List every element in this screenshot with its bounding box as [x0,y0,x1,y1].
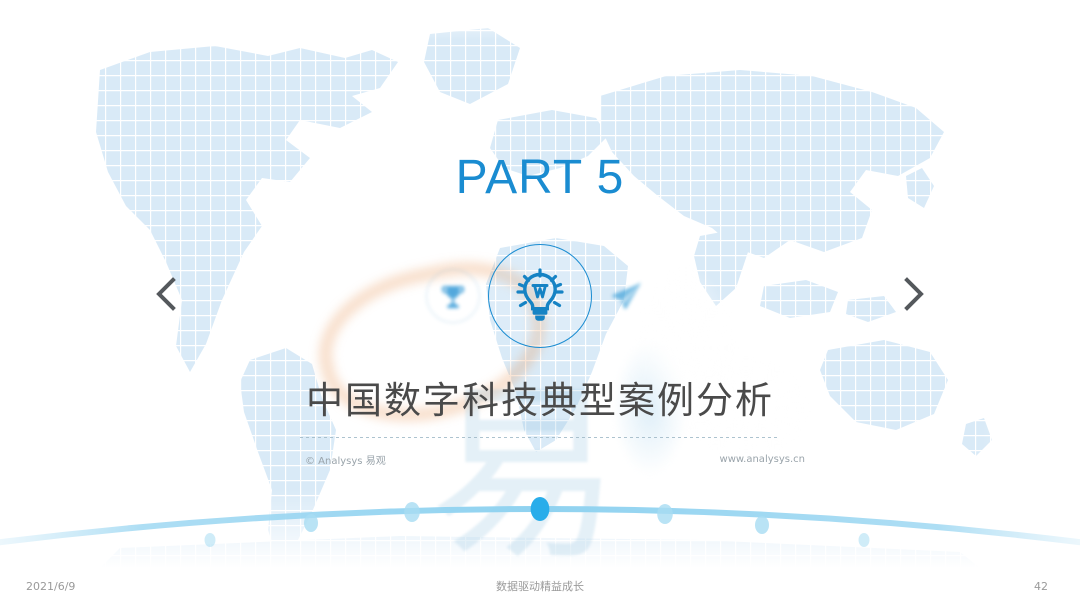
credits-row: © Analysys 易观 www.analysys.cn [305,452,805,467]
chevron-left-icon[interactable] [144,270,188,318]
paper-plane-icon [600,269,654,323]
lightbulb-icon [488,244,592,348]
footer-tagline: 数据驱动精益成长 [0,578,1080,594]
website-url: www.analysys.cn [720,454,805,465]
part-label: PART 5 [0,150,1080,205]
chevron-right-icon[interactable] [892,270,936,318]
slide-canvas: 易 PART 5 [0,0,1080,608]
page-title: 中国数字科技典型案例分析 [0,370,1080,424]
slide-footer: 2021/6/9 数据驱动精益成长 42 [0,564,1080,608]
footer-page-number: 42 [1034,580,1048,593]
dotted-divider [300,437,780,438]
copyright-text: © Analysys 易观 [305,452,386,467]
trophy-icon [426,269,480,323]
